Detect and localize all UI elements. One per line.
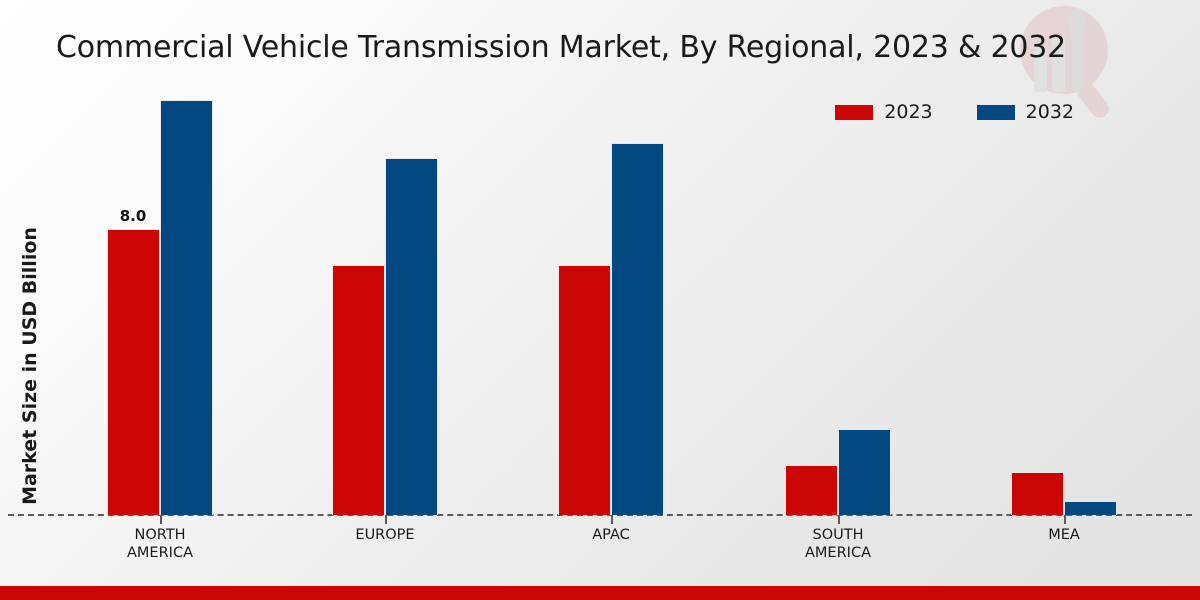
bar-2023-3[interactable] xyxy=(785,465,838,515)
bar-2023-2[interactable] xyxy=(558,265,611,515)
category-label-line: NORTH xyxy=(74,526,246,544)
bar-2023-0[interactable] xyxy=(107,229,160,515)
x-axis-tick-2 xyxy=(611,515,613,524)
category-label-line: AMERICA xyxy=(752,544,924,562)
bar-value-label-2023-0: 8.0 xyxy=(101,207,165,225)
x-axis-tick-0 xyxy=(160,515,162,524)
x-axis-tick-3 xyxy=(838,515,840,524)
category-label-line: SOUTH xyxy=(752,526,924,544)
bar-2032-0[interactable] xyxy=(160,100,213,515)
bar-2023-4[interactable] xyxy=(1011,472,1064,515)
x-axis-category-label-1: EUROPE xyxy=(299,526,471,544)
bottom-accent-band xyxy=(0,586,1200,600)
bar-2032-3[interactable] xyxy=(838,429,891,515)
bar-2032-4[interactable] xyxy=(1064,501,1117,515)
bar-2032-1[interactable] xyxy=(385,158,438,516)
x-axis-category-label-0: NORTH AMERICA xyxy=(74,526,246,562)
bar-2032-2[interactable] xyxy=(611,143,664,515)
x-axis-category-label-2: APAC xyxy=(525,526,697,544)
x-axis-category-label-4: MEA xyxy=(978,526,1150,544)
infographic-canvas: Commercial Vehicle Transmission Market, … xyxy=(0,0,1200,600)
category-label-line: AMERICA xyxy=(74,544,246,562)
bar-2023-1[interactable] xyxy=(332,265,385,515)
category-label-line: APAC xyxy=(525,526,697,544)
x-axis-tick-4 xyxy=(1064,515,1066,524)
category-label-line: MEA xyxy=(978,526,1150,544)
plot-area: 8.0 NORTH AMERICA EUROPE APAC xyxy=(0,0,1200,600)
category-label-line: EUROPE xyxy=(299,526,471,544)
x-axis-tick-1 xyxy=(385,515,387,524)
x-axis-category-label-3: SOUTH AMERICA xyxy=(752,526,924,562)
